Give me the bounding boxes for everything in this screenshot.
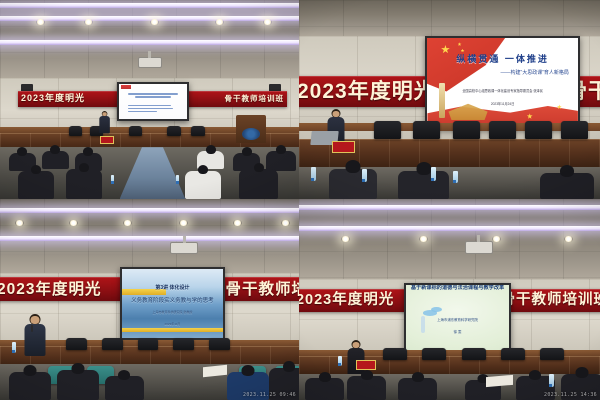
presenter-body — [24, 324, 45, 356]
projection-screen: 基于新课标的道德与法治课程与教学改革 上海市浦东教育科学研究院 徐 雯 — [404, 283, 510, 351]
water-bottle — [453, 171, 458, 183]
ceiling-light-strip — [299, 226, 600, 231]
attendee — [18, 171, 54, 199]
slide-title: 基于新课标的道德与法治课程与教学改革 — [411, 285, 504, 290]
stage-chair — [66, 338, 87, 350]
photo-bottom-right: 2023年度明光 骨干教师培训班 基于新课标的道德与法治课程与教学改革 上海市浦… — [299, 199, 600, 400]
stage-chair — [173, 338, 194, 350]
ceiling-projector — [170, 242, 198, 254]
slide-text-line — [128, 111, 157, 113]
stage-chair — [540, 348, 564, 360]
stage-chair — [191, 126, 204, 136]
water-bottle — [549, 374, 554, 387]
name-plate — [356, 360, 376, 370]
stage-chair — [561, 121, 588, 139]
downlight-icon — [15, 220, 24, 226]
stage-chair — [69, 126, 82, 136]
slide-date: 2023年11月24日 — [491, 101, 515, 106]
ceiling-light-strip — [0, 208, 299, 213]
tiananmen-graphic — [448, 90, 487, 120]
slide-footer-tag: 2023年11月 — [165, 322, 181, 326]
podium — [236, 115, 266, 143]
stage-chair — [462, 348, 486, 360]
banner-right-text: 骨干教师培 — [225, 282, 299, 298]
podium-emblem-icon — [242, 128, 260, 140]
figure-graphic — [421, 316, 425, 333]
banner-left-text: 2023年度明光 — [299, 81, 436, 102]
attendee — [305, 378, 344, 400]
presenter-face — [30, 316, 39, 324]
water-bottle — [311, 167, 316, 181]
seated-lecturer — [99, 111, 110, 127]
water-bottle — [176, 175, 179, 184]
stage-chair — [453, 121, 480, 139]
slide-bottom-left: 第3讲 体化设计 义务教育阶段实义务教与学的思考 上海市教育科学研究院 张教授 … — [122, 269, 224, 337]
water-bottle — [12, 342, 16, 353]
lecturer-body — [99, 116, 110, 133]
stage-chair — [501, 348, 525, 360]
water-bottle — [111, 175, 114, 184]
stage-chair — [102, 338, 123, 350]
downlight-icon — [123, 220, 132, 226]
slide-text-line — [128, 93, 178, 95]
downlight-icon — [263, 19, 272, 25]
attendee — [540, 173, 594, 199]
slide-presenter: 徐 雯 — [454, 329, 462, 334]
downlight-icon — [233, 220, 242, 226]
water-bottle — [338, 356, 342, 366]
attendee — [347, 376, 386, 400]
downlight-icon — [36, 19, 45, 25]
attendee — [239, 169, 278, 199]
photo-top-right: 2023年度明光 骨干 纵横贯通 一体推进 ——构建“大思政课”育人新格局 — [299, 0, 600, 199]
slide-title: 第3讲 体化设计 — [155, 284, 189, 291]
banner-right-text: 骨干教师培训班 — [225, 95, 285, 103]
water-bottle — [362, 169, 367, 182]
ceiling-light-strip — [0, 40, 299, 45]
stage-chair — [138, 338, 159, 350]
standing-presenter — [24, 314, 46, 354]
ceiling — [299, 0, 600, 36]
slide-top-right: 纵横贯通 一体推进 ——构建“大思政课”育人新格局 全国高校中心组思政课一体化建… — [427, 38, 578, 128]
stage-chair — [129, 126, 142, 136]
downlight-icon — [492, 236, 501, 242]
ceiling-light-strip — [299, 205, 600, 210]
stage-chair — [422, 348, 446, 360]
downlight-icon — [281, 220, 290, 226]
ceiling-light-strip — [0, 236, 299, 241]
ceiling — [299, 199, 600, 279]
attendee — [266, 151, 296, 171]
slide-text-line — [135, 96, 171, 98]
downlight-icon — [150, 19, 159, 25]
projection-screen: 纵横贯通 一体推进 ——构建“大思政课”育人新格局 全国高校中心组思政课一体化建… — [425, 36, 580, 130]
downlight-icon — [341, 236, 350, 242]
banner-left-text: 2023年度明光 — [299, 293, 394, 308]
banner-left-text: 2023年度明光 — [0, 282, 102, 298]
column-graphic — [439, 83, 445, 119]
stage-chair — [167, 126, 180, 136]
photo-collage: 2023年度明光 骨干教师培训班 — [0, 0, 600, 400]
slide-organization: 上海市教育科学研究院 张教授 — [153, 310, 193, 314]
ceiling-light-strip — [0, 3, 299, 8]
photo-timestamp: 2023.11.25 09:46 — [243, 392, 296, 398]
slide-organization: 上海市浦东教育科学研究院 — [437, 317, 478, 322]
downlight-icon — [564, 236, 573, 242]
photo-top-left: 2023年度明光 骨干教师培训班 — [0, 0, 299, 199]
downlight-icon — [69, 220, 78, 226]
ceiling-projector — [465, 241, 493, 254]
photo-timestamp: 2023.11.25 14:36 — [544, 392, 597, 398]
attendee — [57, 370, 99, 400]
stage-chair — [374, 121, 401, 139]
slide-text-line — [128, 108, 173, 110]
attendee — [398, 171, 449, 199]
attendee — [329, 169, 377, 199]
banner-right-text: 骨干教师培训班 — [501, 293, 600, 308]
stage-chair — [383, 348, 407, 360]
ceiling-panel-grid — [299, 0, 600, 36]
projection-screen: 第3讲 体化设计 义务教育阶段实义务教与学的思考 上海市教育科学研究院 张教授 … — [120, 267, 226, 339]
photo-bottom-left: 2023年度明光 骨干教师培 第3讲 体化设计 义务教育阶段实义务教与学的思考 … — [0, 199, 299, 400]
slide-title: 纵横贯通 一体推进 — [456, 52, 549, 65]
banner-left-text: 2023年度明光 — [21, 94, 85, 103]
projection-screen — [117, 82, 190, 122]
slide-subtitle: 义务教育阶段实义务教与学的思考 — [131, 296, 214, 304]
flag-graphic — [121, 85, 131, 90]
attendee — [66, 169, 102, 199]
stage-chair — [489, 121, 516, 139]
name-plate — [332, 141, 355, 153]
attendee — [398, 378, 437, 400]
stage-chair — [413, 121, 440, 139]
attendee — [9, 372, 51, 400]
paper-handout — [486, 375, 513, 387]
attendee — [42, 151, 69, 169]
slide-organization: 全国高校中心组思政课一体化建设专家指导委员会 张泽民 — [462, 88, 543, 93]
ceiling-projector — [138, 57, 162, 68]
water-bottle — [431, 167, 436, 181]
stage-chair — [525, 121, 552, 139]
attendee — [105, 376, 144, 400]
downlight-icon — [215, 19, 224, 25]
slide-bottom-right: 基于新课标的道德与法治课程与教学改革 上海市浦东教育科学研究院 徐 雯 — [406, 285, 508, 349]
slide-subtitle: ——构建“大思政课”育人新格局 — [501, 69, 569, 76]
downlight-icon — [84, 19, 93, 25]
attendee — [185, 171, 221, 199]
ceiling — [0, 199, 299, 273]
name-plate — [100, 136, 114, 144]
slide-accent-bar — [122, 328, 224, 331]
slide-text-line — [128, 105, 171, 107]
stage-chair — [209, 338, 230, 350]
ceiling — [0, 0, 299, 78]
slide-top-left — [119, 84, 188, 120]
